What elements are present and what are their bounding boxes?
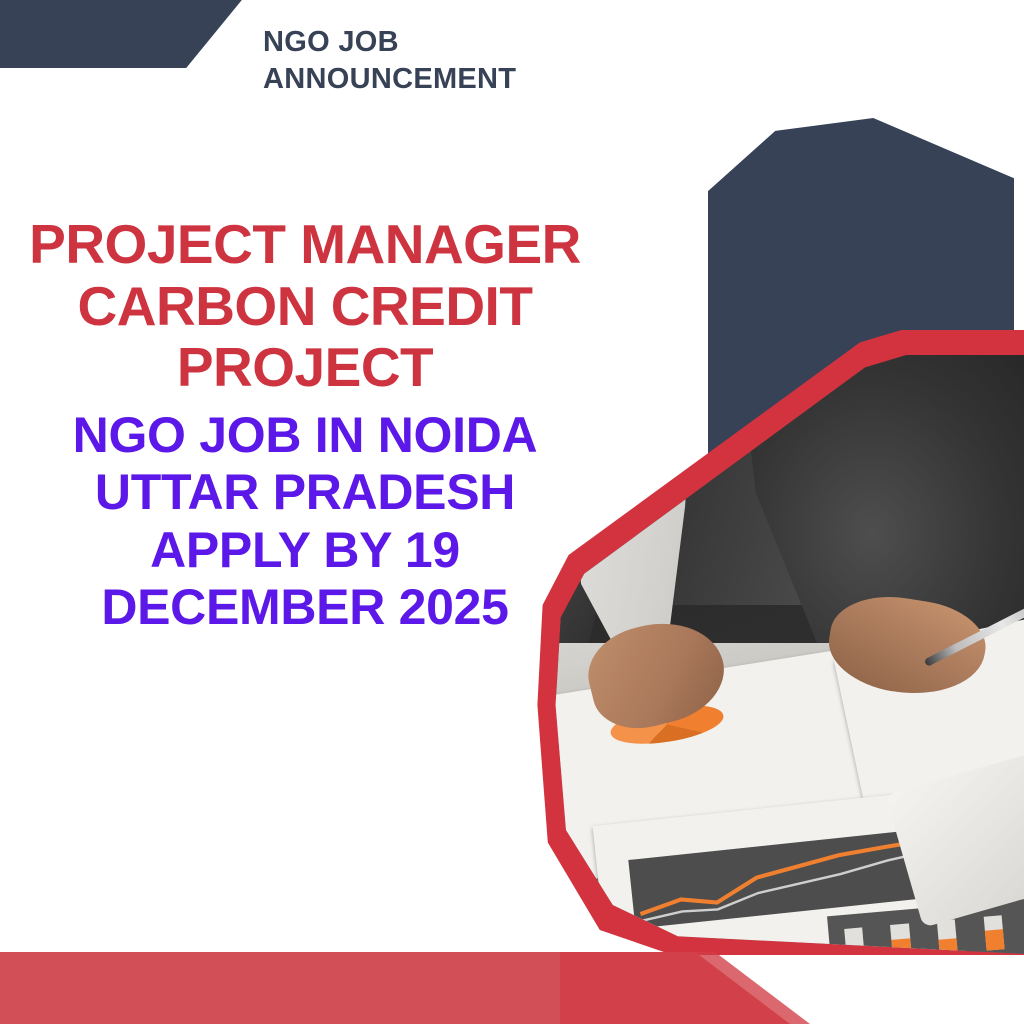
header-title-line-1: NGO JOB: [263, 24, 683, 61]
headline-purple-line-3: APPLY BY 19: [0, 522, 610, 580]
headline-purple-line-4: DECEMBER 2025: [0, 579, 610, 637]
headline-red-line-1: PROJECT MANAGER: [0, 214, 610, 276]
bottom-red-band-overlay: [560, 952, 810, 1024]
headline-purple-line-2: UTTAR PRADESH: [0, 464, 610, 522]
header-title: NGO JOB ANNOUNCEMENT: [263, 24, 683, 98]
headline-red-line-3: PROJECT: [0, 337, 610, 399]
headline-purple: NGO JOB IN NOIDA UTTAR PRADESH APPLY BY …: [0, 407, 610, 637]
headline-block: PROJECT MANAGER CARBON CREDIT PROJECT NG…: [0, 214, 610, 637]
header-title-line-2: ANNOUNCEMENT: [263, 61, 683, 98]
headline-red: PROJECT MANAGER CARBON CREDIT PROJECT: [0, 214, 610, 399]
poster-canvas: NGO JOB ANNOUNCEMENT: [0, 0, 1024, 1024]
top-left-navy-banner-fill: [0, 0, 192, 68]
headline-purple-line-1: NGO JOB IN NOIDA: [0, 407, 610, 465]
headline-red-line-2: CARBON CREDIT: [0, 276, 610, 338]
